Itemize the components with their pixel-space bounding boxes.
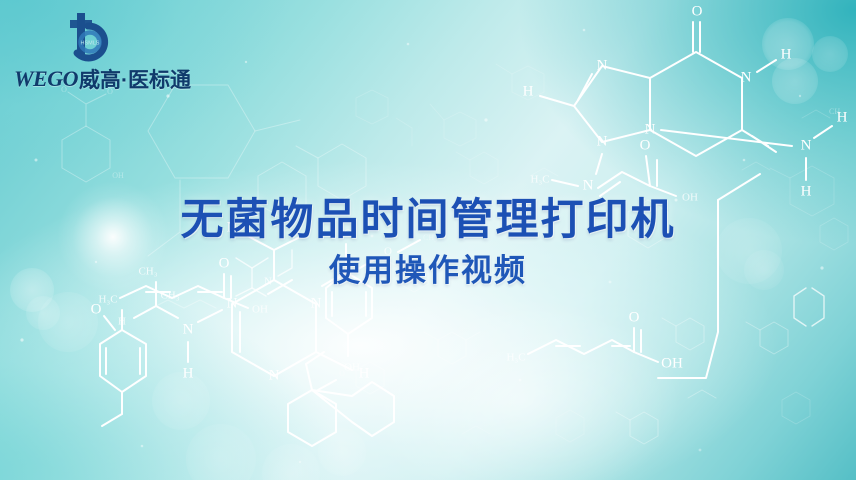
logo-inner-text: HSMLS bbox=[81, 40, 100, 46]
title-block: 无菌物品时间管理打印机 使用操作视频 bbox=[0, 196, 856, 288]
brand-latin-name: WEGO bbox=[14, 66, 78, 92]
brand-chinese-name: 威高·医标通 bbox=[79, 64, 191, 94]
wego-b-cross-logo-icon: HSMLS bbox=[60, 12, 116, 66]
main-title: 无菌物品时间管理打印机 bbox=[0, 196, 856, 244]
sub-title: 使用操作视频 bbox=[0, 254, 856, 288]
brand-wordmark: WEGO 威高·医标通 bbox=[14, 66, 194, 92]
brand-logo[interactable]: HSMLS WEGO 威高·医标通 bbox=[14, 12, 194, 94]
video-title-slide: .b{fill:none;stroke:#ffffff;stroke-width… bbox=[0, 0, 856, 480]
